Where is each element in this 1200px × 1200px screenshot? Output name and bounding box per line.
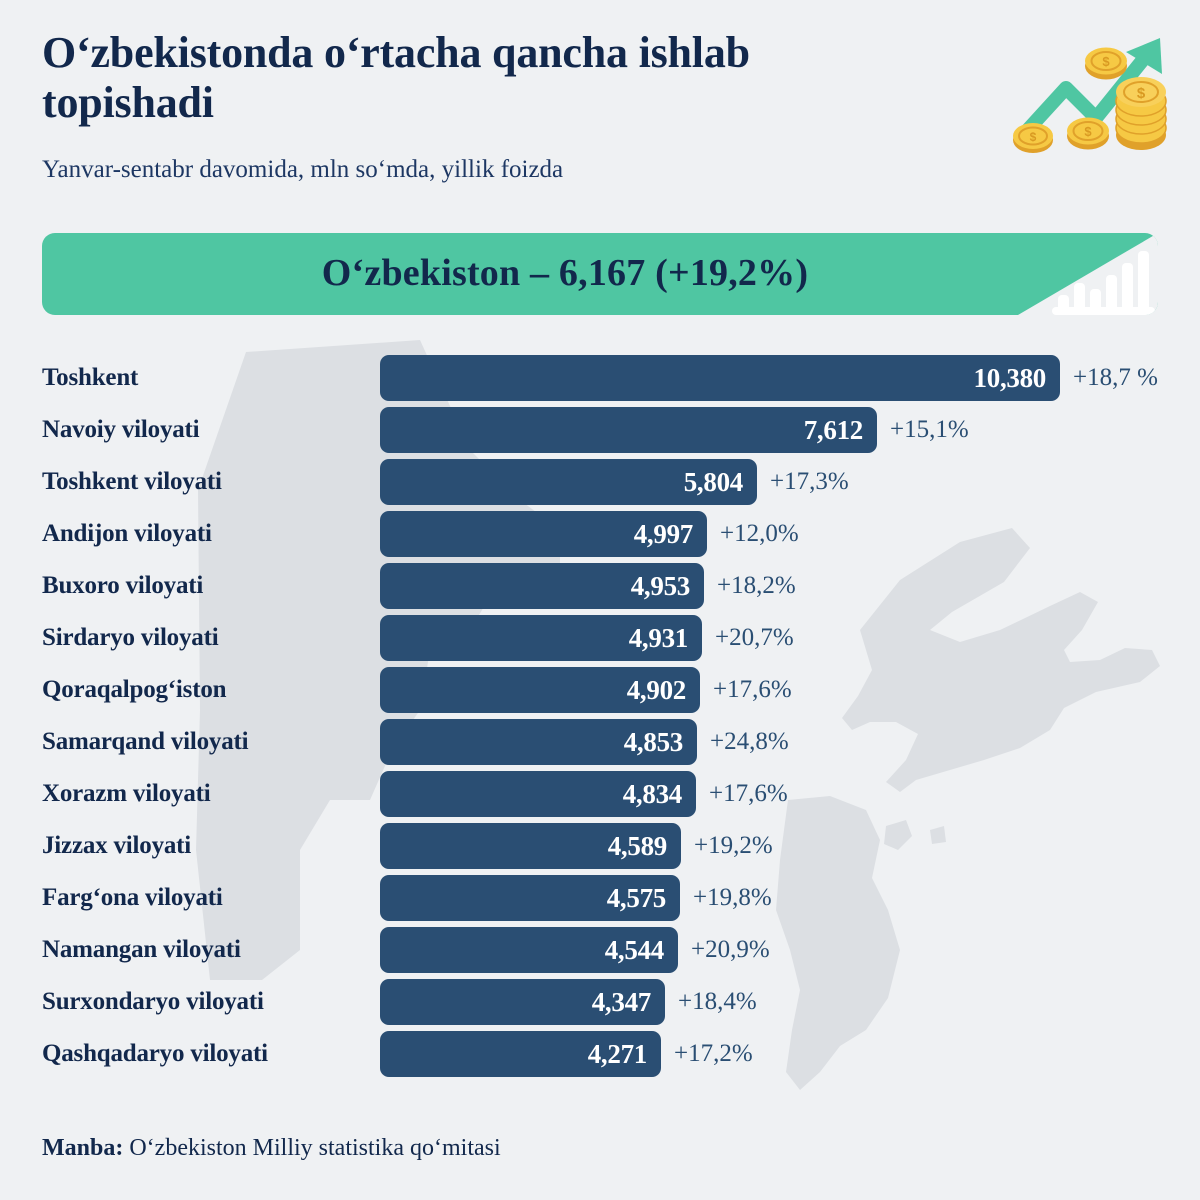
- bar-value-label: 4,953: [631, 571, 690, 602]
- chart-row: Xorazm viloyati4,834+17,6%: [0, 768, 1200, 820]
- bar-value-label: 4,931: [629, 623, 688, 654]
- bar-change-label: +12,0%: [720, 520, 799, 548]
- chart-row: Namangan viloyati4,544+20,9%: [0, 924, 1200, 976]
- region-label: Samarqand viloyati: [42, 728, 362, 756]
- bar-group: 7,612+15,1%: [380, 407, 969, 453]
- region-label: Farg‘ona viloyati: [42, 884, 362, 912]
- bar-value-label: 4,544: [605, 935, 664, 966]
- bar-change-label: +18,2%: [717, 572, 796, 600]
- bar-group: 4,589+19,2%: [380, 823, 773, 869]
- svg-text:$: $: [1084, 124, 1092, 139]
- region-label: Navoiy viloyati: [42, 416, 362, 444]
- bar-value-label: 4,589: [608, 831, 667, 862]
- bar-group: 4,997+12,0%: [380, 511, 799, 557]
- source-text: O‘zbekiston Milliy statistika qo‘mitasi: [123, 1135, 500, 1161]
- page-subtitle: Yanvar-sentabr davomida, mln so‘mda, yil…: [42, 128, 1042, 184]
- bar-group: 5,804+17,3%: [380, 459, 849, 505]
- coins-growth-arrow-icon: $ $ $ $: [1010, 22, 1178, 167]
- banner-label: O‘zbekiston – 6,167 (+19,2%): [42, 251, 1158, 295]
- svg-text:$: $: [1137, 85, 1146, 102]
- region-label: Buxoro viloyati: [42, 572, 362, 600]
- bar-change-label: +18,4%: [678, 988, 757, 1016]
- bar-value-label: 7,612: [804, 415, 863, 446]
- chart-row: Toshkent10,380+18,7 %: [0, 352, 1200, 404]
- bar-change-label: +18,7 %: [1073, 364, 1158, 392]
- bar-value-label: 4,853: [624, 727, 683, 758]
- value-bar: 4,575: [380, 875, 680, 921]
- source-label: Manba:: [42, 1135, 123, 1161]
- region-label: Surxondaryo viloyati: [42, 988, 362, 1016]
- bar-group: 4,271+17,2%: [380, 1031, 753, 1077]
- bar-group: 4,575+19,8%: [380, 875, 772, 921]
- bar-change-label: +15,1%: [890, 416, 969, 444]
- value-bar: 5,804: [380, 459, 757, 505]
- value-bar: 4,834: [380, 771, 696, 817]
- region-label: Qoraqalpog‘iston: [42, 676, 362, 704]
- value-bar: 4,997: [380, 511, 707, 557]
- bar-value-label: 10,380: [974, 363, 1046, 394]
- bar-group: 4,347+18,4%: [380, 979, 757, 1025]
- value-bar: 4,853: [380, 719, 697, 765]
- bar-group: 4,953+18,2%: [380, 563, 796, 609]
- value-bar: 4,902: [380, 667, 700, 713]
- chart-row: Farg‘ona viloyati4,575+19,8%: [0, 872, 1200, 924]
- chart-row: Buxoro viloyati4,953+18,2%: [0, 560, 1200, 612]
- value-bar: 4,347: [380, 979, 665, 1025]
- bar-change-label: +19,2%: [694, 832, 773, 860]
- bar-group: 4,544+20,9%: [380, 927, 770, 973]
- bar-change-label: +19,8%: [693, 884, 772, 912]
- svg-text:$: $: [1102, 54, 1110, 69]
- region-label: Toshkent viloyati: [42, 468, 362, 496]
- value-bar: 4,271: [380, 1031, 661, 1077]
- bar-value-label: 5,804: [684, 467, 743, 498]
- chart-row: Samarqand viloyati4,853+24,8%: [0, 716, 1200, 768]
- bar-group: 4,931+20,7%: [380, 615, 794, 661]
- value-bar: 7,612: [380, 407, 877, 453]
- bar-change-label: +17,6%: [709, 780, 788, 808]
- bar-value-label: 4,347: [592, 987, 651, 1018]
- bar-change-label: +24,8%: [710, 728, 789, 756]
- bar-change-label: +20,9%: [691, 936, 770, 964]
- region-label: Qashqadaryo viloyati: [42, 1040, 362, 1068]
- value-bar: 4,544: [380, 927, 678, 973]
- region-label: Namangan viloyati: [42, 936, 362, 964]
- region-label: Sirdaryo viloyati: [42, 624, 362, 652]
- national-average-banner: O‘zbekiston – 6,167 (+19,2%): [42, 233, 1158, 315]
- bar-value-label: 4,271: [588, 1039, 647, 1070]
- region-label: Toshkent: [42, 364, 362, 392]
- region-bar-chart: Toshkent10,380+18,7 %Navoiy viloyati7,61…: [0, 352, 1200, 1080]
- bar-change-label: +17,3%: [770, 468, 849, 496]
- svg-text:$: $: [1030, 130, 1037, 144]
- source-note: Manba: O‘zbekiston Milliy statistika qo‘…: [42, 1135, 501, 1162]
- chart-row: Sirdaryo viloyati4,931+20,7%: [0, 612, 1200, 664]
- bar-group: 4,853+24,8%: [380, 719, 789, 765]
- chart-row: Qashqadaryo viloyati4,271+17,2%: [0, 1028, 1200, 1080]
- page-title: O‘zbekistonda o‘rtacha qancha ishlab top…: [42, 28, 822, 128]
- bar-value-label: 4,834: [623, 779, 682, 810]
- value-bar: 4,589: [380, 823, 681, 869]
- bar-value-label: 4,575: [607, 883, 666, 914]
- bar-change-label: +20,7%: [715, 624, 794, 652]
- chart-row: Jizzax viloyati4,589+19,2%: [0, 820, 1200, 872]
- region-label: Xorazm viloyati: [42, 780, 362, 808]
- region-label: Andijon viloyati: [42, 520, 362, 548]
- bar-change-label: +17,2%: [674, 1040, 753, 1068]
- bar-group: 4,902+17,6%: [380, 667, 792, 713]
- chart-row: Navoiy viloyati7,612+15,1%: [0, 404, 1200, 456]
- bar-change-label: +17,6%: [713, 676, 792, 704]
- header: O‘zbekistonda o‘rtacha qancha ishlab top…: [42, 28, 1042, 184]
- chart-row: Surxondaryo viloyati4,347+18,4%: [0, 976, 1200, 1028]
- value-bar: 4,931: [380, 615, 702, 661]
- value-bar: 4,953: [380, 563, 704, 609]
- chart-row: Qoraqalpog‘iston4,902+17,6%: [0, 664, 1200, 716]
- bar-value-label: 4,997: [634, 519, 693, 550]
- bar-group: 10,380+18,7 %: [380, 355, 1158, 401]
- chart-row: Toshkent viloyati5,804+17,3%: [0, 456, 1200, 508]
- chart-row: Andijon viloyati4,997+12,0%: [0, 508, 1200, 560]
- value-bar: 10,380: [380, 355, 1060, 401]
- region-label: Jizzax viloyati: [42, 832, 362, 860]
- bar-value-label: 4,902: [627, 675, 686, 706]
- bar-group: 4,834+17,6%: [380, 771, 788, 817]
